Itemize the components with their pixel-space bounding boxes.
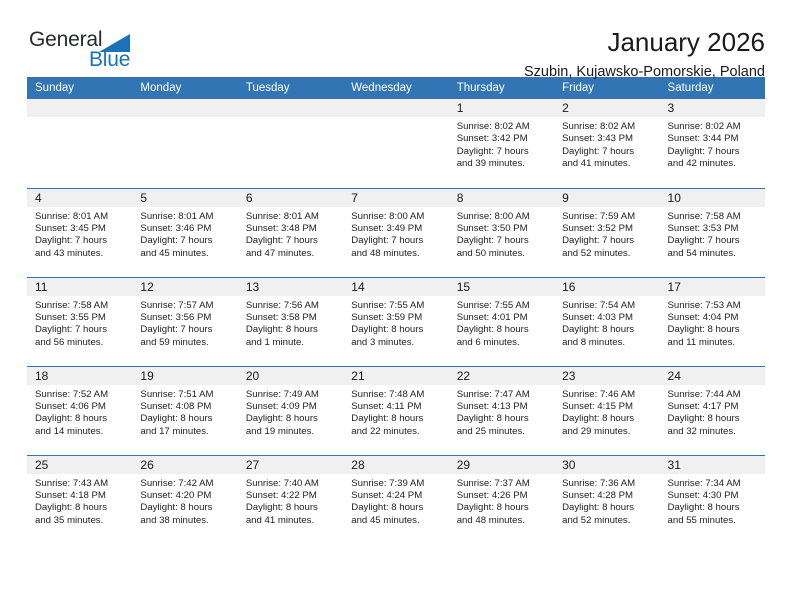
calendar-cell-inner: 2Sunrise: 8:02 AMSunset: 3:43 PMDaylight… [554,99,659,188]
daylight-text-line1: Daylight: 7 hours [246,235,337,247]
calendar-cell-inner: 1Sunrise: 8:02 AMSunset: 3:42 PMDaylight… [449,99,554,188]
calendar-cell-inner: 16Sunrise: 7:54 AMSunset: 4:03 PMDayligh… [554,278,659,366]
daylight-text-line1: Daylight: 8 hours [562,413,653,425]
day-number: 24 [660,367,765,385]
sunrise-text: Sunrise: 7:58 AM [668,211,759,223]
calendar-day-cell[interactable]: 5Sunrise: 8:01 AMSunset: 3:46 PMDaylight… [132,188,237,277]
day-details: Sunrise: 7:58 AMSunset: 3:53 PMDaylight:… [660,207,765,261]
daylight-text-line2: and 22 minutes. [351,426,442,438]
day-number: 4 [27,189,132,207]
day-details: Sunrise: 8:02 AMSunset: 3:44 PMDaylight:… [660,117,765,171]
calendar-cell-inner: 9Sunrise: 7:59 AMSunset: 3:52 PMDaylight… [554,189,659,277]
day-details: Sunrise: 7:52 AMSunset: 4:06 PMDaylight:… [27,385,132,439]
calendar-week-row: 4Sunrise: 8:01 AMSunset: 3:45 PMDaylight… [27,188,765,277]
sunrise-text: Sunrise: 7:43 AM [35,478,126,490]
calendar-day-cell[interactable]: 24Sunrise: 7:44 AMSunset: 4:17 PMDayligh… [660,366,765,455]
daylight-text-line1: Daylight: 8 hours [457,324,548,336]
calendar-day-cell[interactable]: 9Sunrise: 7:59 AMSunset: 3:52 PMDaylight… [554,188,659,277]
day-number: 21 [343,367,448,385]
daylight-text-line1: Daylight: 8 hours [35,413,126,425]
sunrise-text: Sunrise: 7:40 AM [246,478,337,490]
sunset-text: Sunset: 3:52 PM [562,223,653,235]
calendar-day-cell[interactable]: 19Sunrise: 7:51 AMSunset: 4:08 PMDayligh… [132,366,237,455]
daylight-text-line1: Daylight: 7 hours [35,324,126,336]
sunset-text: Sunset: 3:49 PM [351,223,442,235]
daylight-text-line2: and 50 minutes. [457,248,548,260]
sunrise-text: Sunrise: 8:00 AM [351,211,442,223]
sunrise-text: Sunrise: 7:36 AM [562,478,653,490]
day-number [27,99,132,117]
day-number [238,99,343,117]
sunset-text: Sunset: 4:04 PM [668,312,759,324]
daylight-text-line2: and 54 minutes. [668,248,759,260]
calendar-cell-empty [132,99,237,188]
sunrise-text: Sunrise: 7:58 AM [35,300,126,312]
daylight-text-line1: Daylight: 7 hours [668,235,759,247]
sunrise-text: Sunrise: 7:44 AM [668,389,759,401]
day-details: Sunrise: 7:34 AMSunset: 4:30 PMDaylight:… [660,474,765,528]
sunset-text: Sunset: 4:30 PM [668,490,759,502]
sunset-text: Sunset: 3:44 PM [668,133,759,145]
calendar-cell-inner: 6Sunrise: 8:01 AMSunset: 3:48 PMDaylight… [238,189,343,277]
daylight-text-line1: Daylight: 8 hours [351,324,442,336]
calendar-day-cell[interactable]: 22Sunrise: 7:47 AMSunset: 4:13 PMDayligh… [449,366,554,455]
calendar-cell-inner: 26Sunrise: 7:42 AMSunset: 4:20 PMDayligh… [132,456,237,545]
calendar-week-row: 18Sunrise: 7:52 AMSunset: 4:06 PMDayligh… [27,366,765,455]
daylight-text-line2: and 45 minutes. [351,515,442,527]
sunset-text: Sunset: 4:18 PM [35,490,126,502]
calendar-day-cell[interactable]: 17Sunrise: 7:53 AMSunset: 4:04 PMDayligh… [660,277,765,366]
day-number: 8 [449,189,554,207]
daylight-text-line2: and 55 minutes. [668,515,759,527]
daylight-text-line2: and 32 minutes. [668,426,759,438]
day-number: 12 [132,278,237,296]
daylight-text-line1: Daylight: 8 hours [562,502,653,514]
day-number: 30 [554,456,659,474]
calendar-day-cell[interactable]: 14Sunrise: 7:55 AMSunset: 3:59 PMDayligh… [343,277,448,366]
daylight-text-line1: Daylight: 8 hours [457,502,548,514]
sunset-text: Sunset: 3:45 PM [35,223,126,235]
sunset-text: Sunset: 4:26 PM [457,490,548,502]
column-header-sunday: Sunday [27,77,132,99]
daylight-text-line1: Daylight: 7 hours [457,235,548,247]
day-number: 6 [238,189,343,207]
sunrise-text: Sunrise: 7:42 AM [140,478,231,490]
day-number: 11 [27,278,132,296]
daylight-text-line2: and 52 minutes. [562,248,653,260]
calendar-cell-inner [132,99,237,188]
daylight-text-line1: Daylight: 8 hours [351,413,442,425]
calendar-cell-empty [238,99,343,188]
sunset-text: Sunset: 4:08 PM [140,401,231,413]
day-number: 13 [238,278,343,296]
daylight-text-line2: and 11 minutes. [668,337,759,349]
calendar-cell-inner: 15Sunrise: 7:55 AMSunset: 4:01 PMDayligh… [449,278,554,366]
daylight-text-line2: and 52 minutes. [562,515,653,527]
sunset-text: Sunset: 3:53 PM [668,223,759,235]
day-details: Sunrise: 8:00 AMSunset: 3:49 PMDaylight:… [343,207,448,261]
calendar-cell-inner: 4Sunrise: 8:01 AMSunset: 3:45 PMDaylight… [27,189,132,277]
daylight-text-line1: Daylight: 8 hours [351,502,442,514]
calendar-day-cell[interactable]: 25Sunrise: 7:43 AMSunset: 4:18 PMDayligh… [27,455,132,544]
calendar-cell-inner: 25Sunrise: 7:43 AMSunset: 4:18 PMDayligh… [27,456,132,545]
day-number: 15 [449,278,554,296]
daylight-text-line2: and 48 minutes. [457,515,548,527]
calendar-cell-inner: 23Sunrise: 7:46 AMSunset: 4:15 PMDayligh… [554,367,659,455]
calendar-cell-inner: 30Sunrise: 7:36 AMSunset: 4:28 PMDayligh… [554,456,659,545]
sunset-text: Sunset: 4:11 PM [351,401,442,413]
daylight-text-line2: and 47 minutes. [246,248,337,260]
daylight-text-line2: and 19 minutes. [246,426,337,438]
day-number: 3 [660,99,765,117]
calendar-day-cell[interactable]: 4Sunrise: 8:01 AMSunset: 3:45 PMDaylight… [27,188,132,277]
daylight-text-line2: and 41 minutes. [246,515,337,527]
calendar-day-cell[interactable]: 21Sunrise: 7:48 AMSunset: 4:11 PMDayligh… [343,366,448,455]
day-number: 23 [554,367,659,385]
sunrise-text: Sunrise: 7:56 AM [246,300,337,312]
page-title: January 2026 [147,28,765,56]
sunrise-text: Sunrise: 7:47 AM [457,389,548,401]
daylight-text-line1: Daylight: 8 hours [457,413,548,425]
day-details: Sunrise: 7:53 AMSunset: 4:04 PMDaylight:… [660,296,765,350]
calendar-week-row: 11Sunrise: 7:58 AMSunset: 3:55 PMDayligh… [27,277,765,366]
calendar-cell-inner [238,99,343,188]
page-subtitle: Szubin, Kujawsko-Pomorskie, Poland [147,65,765,81]
calendar-day-cell[interactable]: 15Sunrise: 7:55 AMSunset: 4:01 PMDayligh… [449,277,554,366]
daylight-text-line1: Daylight: 8 hours [35,502,126,514]
sunset-text: Sunset: 4:09 PM [246,401,337,413]
daylight-text-line1: Daylight: 8 hours [246,324,337,336]
calendar-day-cell[interactable]: 28Sunrise: 7:39 AMSunset: 4:24 PMDayligh… [343,455,448,544]
sunset-text: Sunset: 4:22 PM [246,490,337,502]
day-details: Sunrise: 8:00 AMSunset: 3:50 PMDaylight:… [449,207,554,261]
sunrise-text: Sunrise: 7:46 AM [562,389,653,401]
daylight-text-line2: and 29 minutes. [562,426,653,438]
day-number: 26 [132,456,237,474]
calendar-cell-inner: 3Sunrise: 8:02 AMSunset: 3:44 PMDaylight… [660,99,765,188]
daylight-text-line2: and 35 minutes. [35,515,126,527]
sunrise-text: Sunrise: 7:48 AM [351,389,442,401]
sunrise-text: Sunrise: 7:51 AM [140,389,231,401]
calendar-day-cell[interactable]: 7Sunrise: 8:00 AMSunset: 3:49 PMDaylight… [343,188,448,277]
day-details: Sunrise: 7:47 AMSunset: 4:13 PMDaylight:… [449,385,554,439]
general-blue-logo[interactable]: General Blue [27,28,147,76]
calendar-cell-inner: 19Sunrise: 7:51 AMSunset: 4:08 PMDayligh… [132,367,237,455]
day-details: Sunrise: 7:58 AMSunset: 3:55 PMDaylight:… [27,296,132,350]
calendar-cell-inner: 29Sunrise: 7:37 AMSunset: 4:26 PMDayligh… [449,456,554,545]
calendar-day-cell[interactable]: 2Sunrise: 8:02 AMSunset: 3:43 PMDaylight… [554,99,659,188]
calendar-cell-inner: 28Sunrise: 7:39 AMSunset: 4:24 PMDayligh… [343,456,448,545]
day-number: 31 [660,456,765,474]
sunset-text: Sunset: 3:50 PM [457,223,548,235]
sunrise-text: Sunrise: 7:59 AM [562,211,653,223]
sunrise-text: Sunrise: 8:02 AM [668,121,759,133]
daylight-text-line2: and 3 minutes. [351,337,442,349]
day-number [132,99,237,117]
calendar-cell-inner: 21Sunrise: 7:48 AMSunset: 4:11 PMDayligh… [343,367,448,455]
day-number: 10 [660,189,765,207]
calendar-week-row: 25Sunrise: 7:43 AMSunset: 4:18 PMDayligh… [27,455,765,544]
calendar-cell-inner: 27Sunrise: 7:40 AMSunset: 4:22 PMDayligh… [238,456,343,545]
daylight-text-line2: and 14 minutes. [35,426,126,438]
daylight-text-line2: and 42 minutes. [668,158,759,170]
calendar-day-cell[interactable]: 12Sunrise: 7:57 AMSunset: 3:56 PMDayligh… [132,277,237,366]
daylight-text-line1: Daylight: 7 hours [351,235,442,247]
calendar-week-row: 1Sunrise: 8:02 AMSunset: 3:42 PMDaylight… [27,99,765,188]
daylight-text-line2: and 39 minutes. [457,158,548,170]
sunrise-text: Sunrise: 7:49 AM [246,389,337,401]
calendar-day-cell[interactable]: 30Sunrise: 7:36 AMSunset: 4:28 PMDayligh… [554,455,659,544]
calendar-cell-inner: 8Sunrise: 8:00 AMSunset: 3:50 PMDaylight… [449,189,554,277]
daylight-text-line2: and 17 minutes. [140,426,231,438]
day-number: 7 [343,189,448,207]
sunset-text: Sunset: 3:46 PM [140,223,231,235]
sunrise-text: Sunrise: 8:02 AM [457,121,548,133]
calendar-day-cell[interactable]: 26Sunrise: 7:42 AMSunset: 4:20 PMDayligh… [132,455,237,544]
sunrise-text: Sunrise: 8:01 AM [140,211,231,223]
day-details: Sunrise: 8:02 AMSunset: 3:43 PMDaylight:… [554,117,659,171]
calendar-day-cell[interactable]: 27Sunrise: 7:40 AMSunset: 4:22 PMDayligh… [238,455,343,544]
day-number: 9 [554,189,659,207]
sunrise-text: Sunrise: 7:34 AM [668,478,759,490]
day-details: Sunrise: 8:01 AMSunset: 3:46 PMDaylight:… [132,207,237,261]
day-number: 29 [449,456,554,474]
calendar-day-cell[interactable]: 3Sunrise: 8:02 AMSunset: 3:44 PMDaylight… [660,99,765,188]
day-details: Sunrise: 7:36 AMSunset: 4:28 PMDaylight:… [554,474,659,528]
daylight-text-line1: Daylight: 7 hours [457,146,548,158]
day-number: 20 [238,367,343,385]
day-details: Sunrise: 8:02 AMSunset: 3:42 PMDaylight:… [449,117,554,171]
title-block: January 2026 Szubin, Kujawsko-Pomorskie,… [147,28,765,81]
day-number: 25 [27,456,132,474]
sunset-text: Sunset: 4:24 PM [351,490,442,502]
daylight-text-line1: Daylight: 8 hours [668,502,759,514]
daylight-text-line2: and 25 minutes. [457,426,548,438]
calendar-cell-inner: 11Sunrise: 7:58 AMSunset: 3:55 PMDayligh… [27,278,132,366]
day-details: Sunrise: 7:48 AMSunset: 4:11 PMDaylight:… [343,385,448,439]
day-details: Sunrise: 7:40 AMSunset: 4:22 PMDaylight:… [238,474,343,528]
day-details: Sunrise: 7:57 AMSunset: 3:56 PMDaylight:… [132,296,237,350]
daylight-text-line2: and 56 minutes. [35,337,126,349]
day-details: Sunrise: 8:01 AMSunset: 3:48 PMDaylight:… [238,207,343,261]
calendar-day-cell[interactable]: 31Sunrise: 7:34 AMSunset: 4:30 PMDayligh… [660,455,765,544]
sunset-text: Sunset: 4:13 PM [457,401,548,413]
calendar-cell-inner: 20Sunrise: 7:49 AMSunset: 4:09 PMDayligh… [238,367,343,455]
calendar-cell-inner [27,99,132,188]
daylight-text-line1: Daylight: 8 hours [140,413,231,425]
calendar-cell-empty [27,99,132,188]
daylight-text-line1: Daylight: 7 hours [562,146,653,158]
daylight-text-line1: Daylight: 8 hours [246,502,337,514]
daylight-text-line1: Daylight: 7 hours [562,235,653,247]
day-number [343,99,448,117]
calendar-cell-inner: 22Sunrise: 7:47 AMSunset: 4:13 PMDayligh… [449,367,554,455]
sunrise-text: Sunrise: 7:55 AM [457,300,548,312]
day-details: Sunrise: 7:55 AMSunset: 3:59 PMDaylight:… [343,296,448,350]
calendar-page: General Blue January 2026 Szubin, Kujaws… [0,0,792,612]
daylight-text-line2: and 8 minutes. [562,337,653,349]
day-details: Sunrise: 7:43 AMSunset: 4:18 PMDaylight:… [27,474,132,528]
calendar-cell-inner: 5Sunrise: 8:01 AMSunset: 3:46 PMDaylight… [132,189,237,277]
daylight-text-line2: and 41 minutes. [562,158,653,170]
daylight-text-line2: and 45 minutes. [140,248,231,260]
daylight-text-line2: and 6 minutes. [457,337,548,349]
sunset-text: Sunset: 3:56 PM [140,312,231,324]
calendar-day-cell[interactable]: 1Sunrise: 8:02 AMSunset: 3:42 PMDaylight… [449,99,554,188]
day-number: 2 [554,99,659,117]
sunrise-text: Sunrise: 7:54 AM [562,300,653,312]
sunset-text: Sunset: 4:06 PM [35,401,126,413]
day-number: 22 [449,367,554,385]
sunset-text: Sunset: 4:03 PM [562,312,653,324]
day-details: Sunrise: 7:49 AMSunset: 4:09 PMDaylight:… [238,385,343,439]
day-details: Sunrise: 7:44 AMSunset: 4:17 PMDaylight:… [660,385,765,439]
calendar-cell-inner: 7Sunrise: 8:00 AMSunset: 3:49 PMDaylight… [343,189,448,277]
calendar-cell-inner [343,99,448,188]
calendar-cell-inner: 14Sunrise: 7:55 AMSunset: 3:59 PMDayligh… [343,278,448,366]
sunset-text: Sunset: 4:17 PM [668,401,759,413]
daylight-text-line1: Daylight: 7 hours [668,146,759,158]
sunset-text: Sunset: 3:42 PM [457,133,548,145]
calendar-day-cell[interactable]: 18Sunrise: 7:52 AMSunset: 4:06 PMDayligh… [27,366,132,455]
sunrise-text: Sunrise: 8:01 AM [246,211,337,223]
calendar-day-cell[interactable]: 16Sunrise: 7:54 AMSunset: 4:03 PMDayligh… [554,277,659,366]
calendar-day-cell[interactable]: 23Sunrise: 7:46 AMSunset: 4:15 PMDayligh… [554,366,659,455]
calendar-day-cell[interactable]: 8Sunrise: 8:00 AMSunset: 3:50 PMDaylight… [449,188,554,277]
day-number: 28 [343,456,448,474]
daylight-text-line1: Daylight: 8 hours [668,413,759,425]
sunset-text: Sunset: 3:48 PM [246,223,337,235]
calendar-day-cell[interactable]: 29Sunrise: 7:37 AMSunset: 4:26 PMDayligh… [449,455,554,544]
daylight-text-line1: Daylight: 7 hours [140,324,231,336]
month-calendar-table: Sunday Monday Tuesday Wednesday Thursday… [27,77,765,544]
day-number: 17 [660,278,765,296]
day-number: 27 [238,456,343,474]
day-number: 1 [449,99,554,117]
sunrise-text: Sunrise: 7:52 AM [35,389,126,401]
day-number: 14 [343,278,448,296]
calendar-day-cell[interactable]: 10Sunrise: 7:58 AMSunset: 3:53 PMDayligh… [660,188,765,277]
sunrise-text: Sunrise: 8:01 AM [35,211,126,223]
logo-text-blue: Blue [89,48,130,72]
day-number: 16 [554,278,659,296]
day-details: Sunrise: 8:01 AMSunset: 3:45 PMDaylight:… [27,207,132,261]
sunrise-text: Sunrise: 7:55 AM [351,300,442,312]
daylight-text-line1: Daylight: 8 hours [668,324,759,336]
daylight-text-line2: and 48 minutes. [351,248,442,260]
daylight-text-line2: and 1 minute. [246,337,337,349]
day-details: Sunrise: 7:37 AMSunset: 4:26 PMDaylight:… [449,474,554,528]
daylight-text-line1: Daylight: 8 hours [562,324,653,336]
daylight-text-line2: and 43 minutes. [35,248,126,260]
day-details: Sunrise: 7:42 AMSunset: 4:20 PMDaylight:… [132,474,237,528]
calendar-cell-inner: 10Sunrise: 7:58 AMSunset: 3:53 PMDayligh… [660,189,765,277]
daylight-text-line2: and 59 minutes. [140,337,231,349]
day-number: 19 [132,367,237,385]
calendar-day-cell[interactable]: 20Sunrise: 7:49 AMSunset: 4:09 PMDayligh… [238,366,343,455]
day-details: Sunrise: 7:39 AMSunset: 4:24 PMDaylight:… [343,474,448,528]
calendar-cell-inner: 24Sunrise: 7:44 AMSunset: 4:17 PMDayligh… [660,367,765,455]
sunrise-text: Sunrise: 8:02 AM [562,121,653,133]
day-details: Sunrise: 7:56 AMSunset: 3:58 PMDaylight:… [238,296,343,350]
page-header: General Blue January 2026 Szubin, Kujaws… [27,0,765,72]
sunrise-text: Sunrise: 8:00 AM [457,211,548,223]
sunset-text: Sunset: 3:55 PM [35,312,126,324]
calendar-cell-empty [343,99,448,188]
day-details: Sunrise: 7:51 AMSunset: 4:08 PMDaylight:… [132,385,237,439]
daylight-text-line1: Daylight: 7 hours [140,235,231,247]
calendar-cell-inner: 18Sunrise: 7:52 AMSunset: 4:06 PMDayligh… [27,367,132,455]
sunrise-text: Sunrise: 7:37 AM [457,478,548,490]
daylight-text-line2: and 38 minutes. [140,515,231,527]
day-number: 5 [132,189,237,207]
day-details: Sunrise: 7:46 AMSunset: 4:15 PMDaylight:… [554,385,659,439]
sunrise-text: Sunrise: 7:57 AM [140,300,231,312]
calendar-cell-inner: 17Sunrise: 7:53 AMSunset: 4:04 PMDayligh… [660,278,765,366]
calendar-day-cell[interactable]: 13Sunrise: 7:56 AMSunset: 3:58 PMDayligh… [238,277,343,366]
daylight-text-line1: Daylight: 7 hours [35,235,126,247]
calendar-cell-inner: 31Sunrise: 7:34 AMSunset: 4:30 PMDayligh… [660,456,765,545]
daylight-text-line1: Daylight: 8 hours [246,413,337,425]
calendar-cell-inner: 13Sunrise: 7:56 AMSunset: 3:58 PMDayligh… [238,278,343,366]
daylight-text-line1: Daylight: 8 hours [140,502,231,514]
sunset-text: Sunset: 4:15 PM [562,401,653,413]
day-details: Sunrise: 7:59 AMSunset: 3:52 PMDaylight:… [554,207,659,261]
day-details: Sunrise: 7:55 AMSunset: 4:01 PMDaylight:… [449,296,554,350]
sunset-text: Sunset: 4:20 PM [140,490,231,502]
sunset-text: Sunset: 3:58 PM [246,312,337,324]
calendar-day-cell[interactable]: 6Sunrise: 8:01 AMSunset: 3:48 PMDaylight… [238,188,343,277]
sunset-text: Sunset: 3:59 PM [351,312,442,324]
day-number: 18 [27,367,132,385]
day-details: Sunrise: 7:54 AMSunset: 4:03 PMDaylight:… [554,296,659,350]
sunset-text: Sunset: 3:43 PM [562,133,653,145]
calendar-body: 1Sunrise: 8:02 AMSunset: 3:42 PMDaylight… [27,99,765,544]
sunrise-text: Sunrise: 7:39 AM [351,478,442,490]
sunset-text: Sunset: 4:01 PM [457,312,548,324]
calendar-cell-inner: 12Sunrise: 7:57 AMSunset: 3:56 PMDayligh… [132,278,237,366]
sunset-text: Sunset: 4:28 PM [562,490,653,502]
calendar-day-cell[interactable]: 11Sunrise: 7:58 AMSunset: 3:55 PMDayligh… [27,277,132,366]
sunrise-text: Sunrise: 7:53 AM [668,300,759,312]
